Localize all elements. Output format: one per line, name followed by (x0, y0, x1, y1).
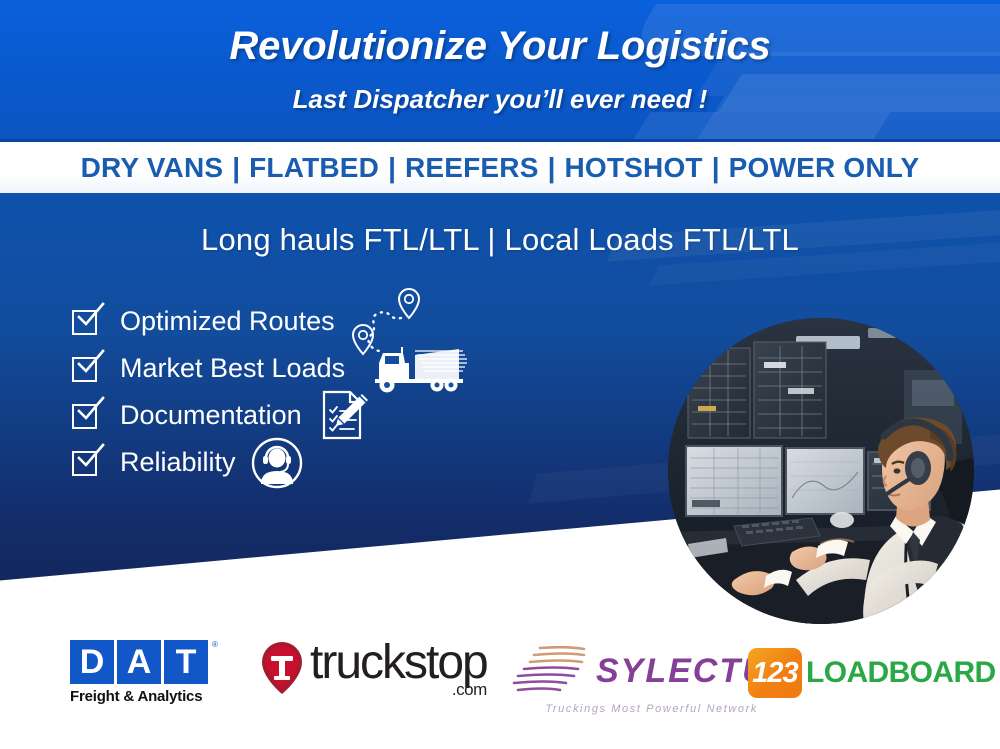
partner-logo-123loadboard[interactable]: 123 LOADBOARD (748, 648, 996, 698)
loadboard-123-badge: 123 (748, 648, 802, 698)
logistics-marketing-banner: Revolutionize Your Logistics Last Dispat… (0, 0, 1000, 749)
feature-label: Optimized Routes (120, 306, 335, 337)
equipment-category-strip: DRY VANS|FLATBED|REEFERS|HOTSHOT|POWER O… (0, 142, 1000, 193)
speed-lines-icon (510, 642, 594, 701)
feature-item: Documentation (72, 392, 632, 439)
registered-trademark-icon: ® (212, 640, 218, 649)
hero-subtitle: Last Dispatcher you’ll ever need ! (0, 84, 1000, 115)
category-item: FLATBED (249, 152, 379, 184)
category-item: HOTSHOT (564, 152, 702, 184)
hero-band: Revolutionize Your Logistics Last Dispat… (0, 0, 1000, 142)
dat-tagline: Freight & Analytics (70, 688, 218, 705)
feature-label: Reliability (120, 447, 236, 478)
category-separator: | (703, 152, 729, 184)
dispatcher-photo (668, 318, 974, 624)
feature-list: Optimized Routes Market Best Loads (72, 298, 632, 486)
checked-checkbox-icon (72, 448, 102, 478)
checked-checkbox-icon (72, 354, 102, 384)
feature-item: Optimized Routes (72, 298, 632, 345)
feature-label: Market Best Loads (120, 353, 345, 384)
category-separator: | (379, 152, 405, 184)
hero-swoosh-decoration (629, 112, 890, 142)
category-item: POWER ONLY (729, 152, 920, 184)
document-pencil-icon (316, 388, 372, 444)
dat-letter-a: A (117, 640, 161, 684)
support-agent-icon (250, 436, 304, 490)
partner-logo-dat[interactable]: D A T ® Freight & Analytics (70, 640, 218, 705)
dat-letter-t: T (164, 640, 208, 684)
category-item: REEFERS (405, 152, 539, 184)
feature-item: Reliability (72, 439, 632, 486)
category-item: DRY VANS (81, 152, 224, 184)
hero-title: Revolutionize Your Logistics (0, 24, 1000, 69)
dat-letter-row: D A T ® (70, 640, 218, 684)
category-list: DRY VANS|FLATBED|REEFERS|HOTSHOT|POWER O… (81, 152, 920, 184)
checked-checkbox-icon (72, 307, 102, 337)
partner-logo-truckstop[interactable]: truckstop .com (258, 640, 487, 701)
service-headline: Long hauls FTL/LTL | Local Loads FTL/LTL (0, 222, 1000, 258)
dat-letter-d: D (70, 640, 114, 684)
feature-label: Documentation (120, 400, 302, 431)
category-separator: | (539, 152, 565, 184)
sylectus-tagline: Truckings Most Powerful Network (510, 703, 793, 715)
category-separator: | (223, 152, 249, 184)
semi-truck-icon (359, 343, 471, 395)
loadboard-wordmark: LOADBOARD (806, 656, 996, 690)
map-pin-truckstop-icon (258, 640, 306, 701)
checked-checkbox-icon (72, 401, 102, 431)
